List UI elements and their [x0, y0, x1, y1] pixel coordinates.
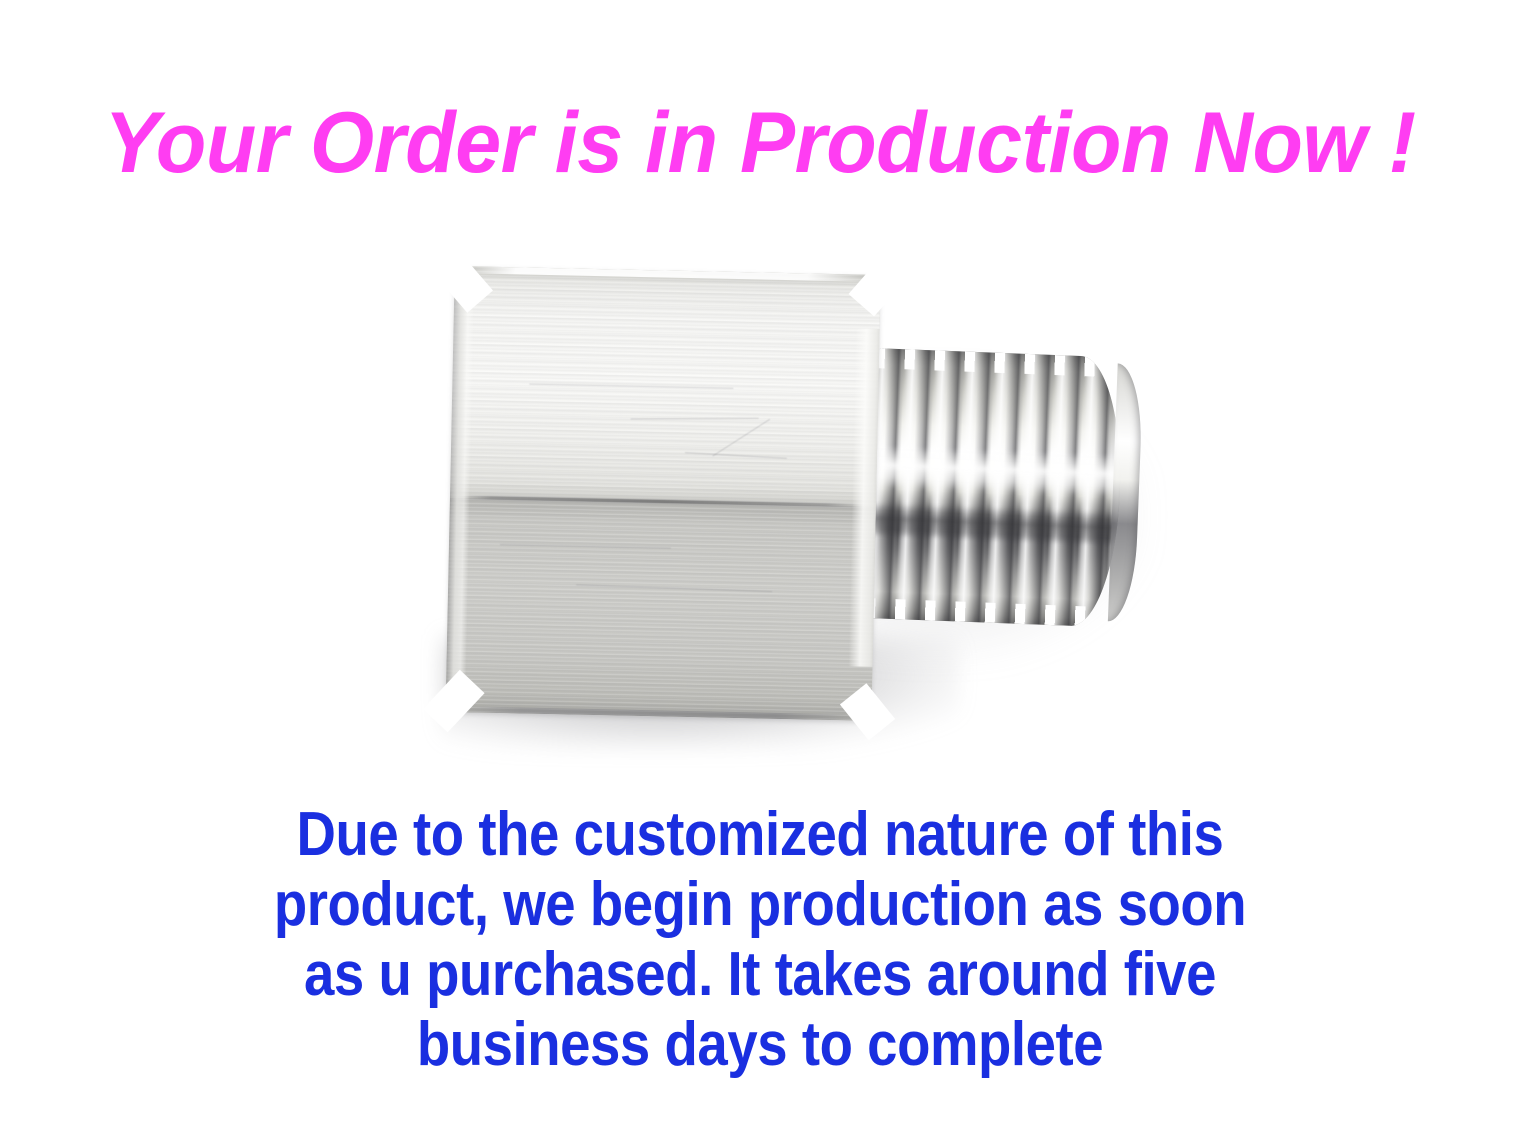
production-notice-line: product, we begin production as soon: [91, 870, 1429, 940]
production-notice-line: as u purchased. It takes around five: [91, 940, 1429, 1010]
production-notice-line: business days to complete: [91, 1010, 1429, 1080]
hex-body: [445, 266, 880, 721]
thread-barrel: [865, 348, 1125, 627]
hex-body-assembly: [445, 266, 884, 725]
production-notice: Due to the customized nature of this pro…: [0, 800, 1520, 1080]
male-threaded-end: [865, 340, 1141, 635]
production-notice-line: Due to the customized nature of this: [91, 800, 1429, 870]
product-photo: [400, 235, 1200, 795]
page-title: Your Order is in Production Now !: [30, 95, 1489, 191]
machining-striations-2: [445, 266, 880, 721]
promo-banner: Your Order is in Production Now !: [0, 0, 1520, 1140]
